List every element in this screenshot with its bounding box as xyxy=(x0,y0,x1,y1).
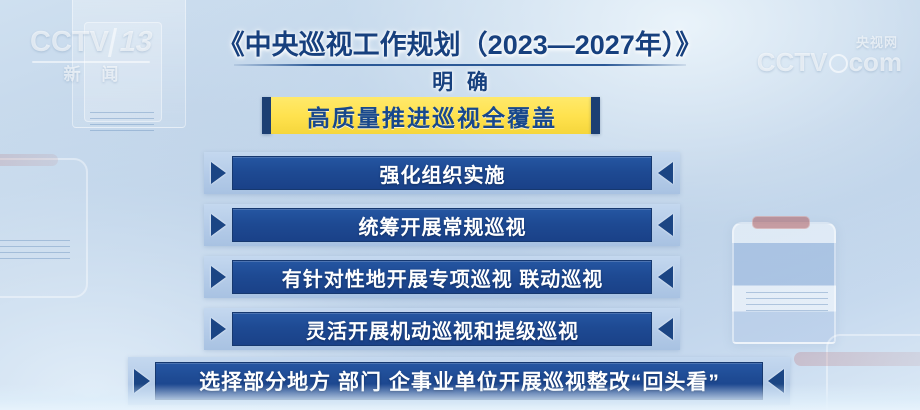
deco-clipboard-clip-right xyxy=(752,216,810,229)
arrow-right-icon xyxy=(211,266,226,288)
list-item-label: 有针对性地开展专项巡视 联动巡视 xyxy=(281,263,604,292)
banner-cap-right xyxy=(591,97,600,134)
arrow-left-icon xyxy=(768,369,784,393)
deco-lines-left xyxy=(0,240,70,264)
headline-underline xyxy=(234,64,686,66)
headline-block: 《中央巡视工作规划（2023—2027年）》 明 确 xyxy=(0,30,920,95)
list-item: 统筹开展常规巡视 xyxy=(204,204,680,246)
list-item-bar: 选择部分地方 部门 企事业单位开展巡视整改“回头看” xyxy=(155,362,763,400)
deco-lines-top-left xyxy=(90,112,154,136)
deco-lines-right xyxy=(746,292,828,316)
deco-clipboard-right xyxy=(732,222,836,344)
list-item: 选择部分地方 部门 企事业单位开展巡视整改“回头看” xyxy=(128,357,790,405)
list-item: 灵活开展机动巡视和提级巡视 xyxy=(204,308,680,350)
list-item-bar: 有针对性地开展专项巡视 联动巡视 xyxy=(232,260,652,294)
deco-clip-bar-bottom-right xyxy=(794,352,920,366)
arrow-right-icon xyxy=(211,214,226,236)
banner-label: 高质量推进巡视全覆盖 xyxy=(305,99,557,133)
arrow-left-icon xyxy=(658,162,673,184)
arrow-left-icon xyxy=(658,266,673,288)
deco-rounded-panel-left xyxy=(0,158,88,298)
list-item-bar: 强化组织实施 xyxy=(232,156,652,190)
highlight-banner: 高质量推进巡视全覆盖 xyxy=(262,97,600,134)
headline-subtitle: 明 确 xyxy=(0,70,920,95)
banner-cap-left xyxy=(262,97,271,134)
deco-rounded-panel-bottom-right xyxy=(826,334,920,410)
list-item-label: 选择部分地方 部门 企事业单位开展巡视整改“回头看” xyxy=(198,366,720,396)
deco-clip-bar-left xyxy=(0,154,58,166)
page-title: 《中央巡视工作规划（2023—2027年）》 xyxy=(0,30,920,61)
list-item-bar: 灵活开展机动巡视和提级巡视 xyxy=(232,312,652,346)
list-item-label: 统筹开展常规巡视 xyxy=(358,211,527,240)
list-item-bar: 统筹开展常规巡视 xyxy=(232,208,652,242)
list-item-label: 灵活开展机动巡视和提级巡视 xyxy=(305,315,579,344)
broadcast-graphic: CCTV13 新 闻 央视网 CCTVcom 《中央巡视工作规划（2023—20… xyxy=(0,0,920,410)
arrow-right-icon xyxy=(211,162,226,184)
list-item: 强化组织实施 xyxy=(204,152,680,194)
list-item: 有针对性地开展专项巡视 联动巡视 xyxy=(204,256,680,298)
arrow-right-icon xyxy=(211,318,226,340)
arrow-right-icon xyxy=(134,369,150,393)
banner-body: 高质量推进巡视全覆盖 xyxy=(271,97,591,134)
arrow-left-icon xyxy=(658,214,673,236)
list-item-label: 强化组织实施 xyxy=(379,159,506,188)
arrow-left-icon xyxy=(658,318,673,340)
